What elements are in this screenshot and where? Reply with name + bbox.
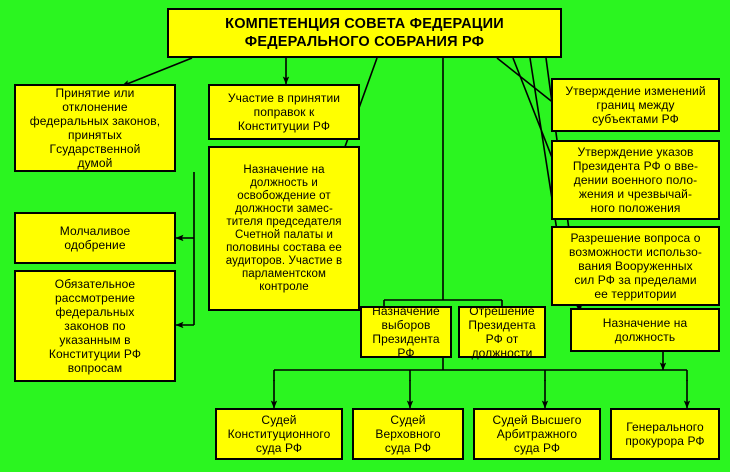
node-presidential-elections[interactable]: Назначение выборов Президента РФ	[360, 306, 452, 358]
node-impeachment[interactable]: Отрешение Президента РФ от должности	[458, 306, 546, 358]
node-accounts-chamber[interactable]: Назначение на должность и освобождение о…	[208, 146, 360, 311]
node-arbitration-court[interactable]: Судей Высшего Арбитражного суда РФ	[473, 408, 601, 460]
node-appointment-to-office[interactable]: Назначение на должность	[570, 308, 720, 352]
node-adoption-rejection[interactable]: Принятие или отклонение федеральных зако…	[14, 84, 176, 172]
node-supreme-court[interactable]: Судей Верховного суда РФ	[352, 408, 464, 460]
node-constitutional-court[interactable]: Судей Конституционного суда РФ	[215, 408, 343, 460]
node-presidential-decrees[interactable]: Утверждение указов Президента РФ о вве- …	[551, 140, 720, 220]
node-constitution-amendments[interactable]: Участие в принятии поправок к Конституци…	[208, 84, 360, 140]
node-mandatory-review[interactable]: Обязательное рассмотрение федеральных за…	[14, 270, 176, 382]
node-border-changes[interactable]: Утверждение изменений границ между субъе…	[551, 78, 720, 132]
title-box: КОМПЕТЕНЦИЯ СОВЕТА ФЕДЕРАЦИИ ФЕДЕРАЛЬНОГ…	[167, 8, 562, 58]
node-armed-forces[interactable]: Разрешение вопроса о возможности использ…	[551, 226, 720, 306]
node-tacit-approval[interactable]: Молчаливое одобрение	[14, 212, 176, 264]
diagram-canvas: КОМПЕТЕНЦИЯ СОВЕТА ФЕДЕРАЦИИ ФЕДЕРАЛЬНОГ…	[0, 0, 730, 472]
node-prosecutor-general[interactable]: Генерального прокурора РФ	[610, 408, 720, 460]
